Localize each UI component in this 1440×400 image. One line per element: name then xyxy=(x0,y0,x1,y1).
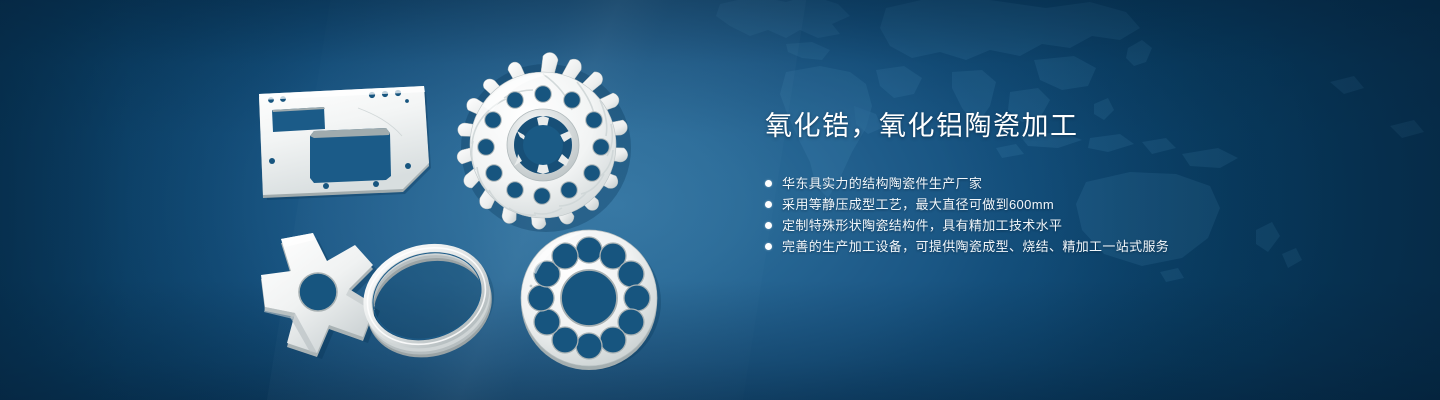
list-item: 完善的生产加工设备，可提供陶瓷成型、烧结、精加工一站式服务 xyxy=(765,236,1365,257)
banner-copy: 氧化锆，氧化铝陶瓷加工 华东具实力的结构陶瓷件生产厂家 采用等静压成型工艺，最大… xyxy=(765,108,1365,257)
feature-text: 采用等静压成型工艺，最大直径可做到600mm xyxy=(782,194,1054,215)
bullet-dot-icon xyxy=(765,180,772,187)
feature-text: 完善的生产加工设备，可提供陶瓷成型、烧结、精加工一站式服务 xyxy=(782,236,1169,257)
hero-banner: 氧化锆，氧化铝陶瓷加工 华东具实力的结构陶瓷件生产厂家 采用等静压成型工艺，最大… xyxy=(0,0,1440,400)
list-item: 华东具实力的结构陶瓷件生产厂家 xyxy=(765,173,1365,194)
list-item: 采用等静压成型工艺，最大直径可做到600mm xyxy=(765,194,1365,215)
list-item: 定制特殊形状陶瓷结构件，具有精加工技术水平 xyxy=(765,215,1365,236)
bullet-dot-icon xyxy=(765,222,772,229)
feature-text: 定制特殊形状陶瓷结构件，具有精加工技术水平 xyxy=(782,215,1062,236)
bullet-dot-icon xyxy=(765,201,772,208)
feature-text: 华东具实力的结构陶瓷件生产厂家 xyxy=(782,173,982,194)
page-title: 氧化锆，氧化铝陶瓷加工 xyxy=(765,108,1365,144)
bullet-dot-icon xyxy=(765,243,772,250)
feature-list: 华东具实力的结构陶瓷件生产厂家 采用等静压成型工艺，最大直径可做到600mm 定… xyxy=(765,173,1365,257)
